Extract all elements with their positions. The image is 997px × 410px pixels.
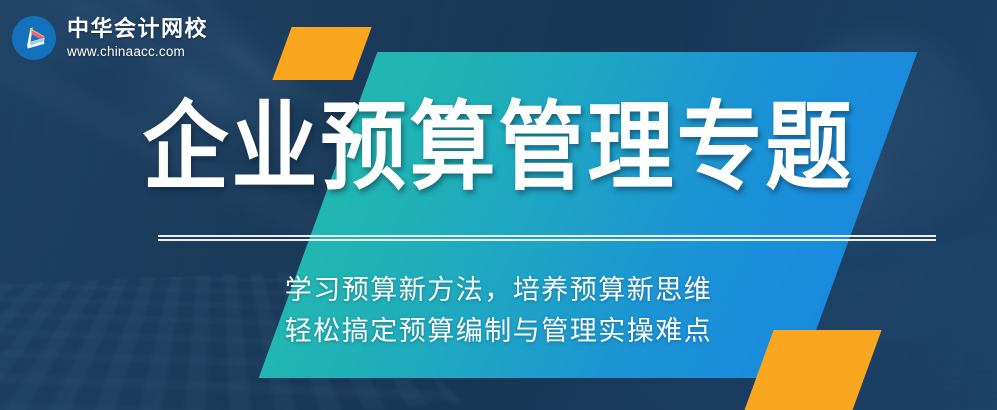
divider-line-lower (158, 239, 936, 241)
divider-line-upper (158, 235, 936, 237)
brand-website: www.chinaacc.com (67, 45, 208, 59)
promo-banner: 中华会计网校 www.chinaacc.com 企业预算管理专题 学习预算新方法… (0, 0, 997, 410)
banner-subtitles: 学习预算新方法，培养预算新思维 轻松搞定预算编制与管理实操难点 (0, 270, 997, 352)
brand-name: 中华会计网校 (67, 18, 208, 40)
subtitle-line-1: 学习预算新方法，培养预算新思维 (0, 270, 997, 311)
site-logo[interactable]: 中华会计网校 www.chinaacc.com (12, 16, 208, 60)
logo-text-block: 中华会计网校 www.chinaacc.com (67, 18, 208, 59)
open-book-icon (12, 16, 56, 60)
subtitle-line-2: 轻松搞定预算编制与管理实操难点 (0, 311, 997, 352)
double-rule-divider (158, 235, 936, 240)
banner-title: 企业预算管理专题 (0, 100, 997, 196)
